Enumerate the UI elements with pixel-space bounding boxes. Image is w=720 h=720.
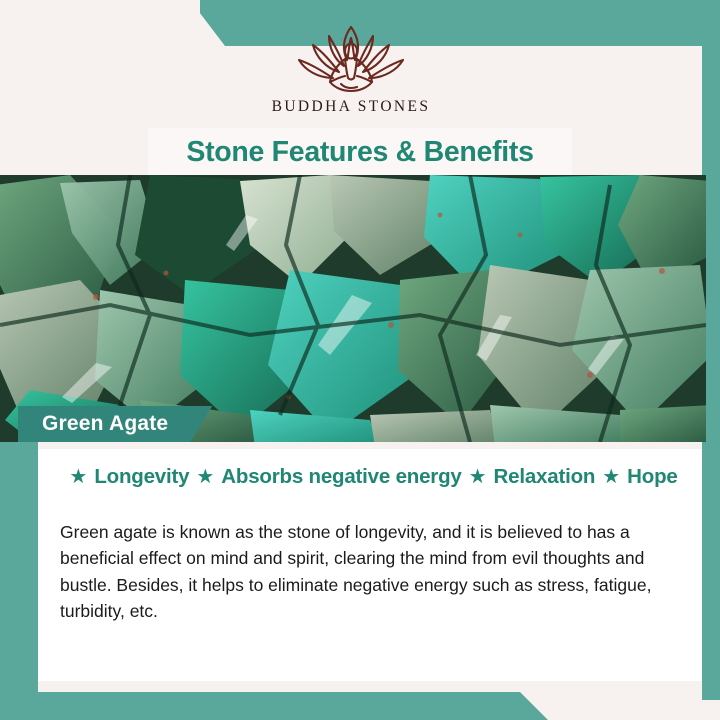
infographic-page: BUDDHA STONES Stone Features & Benefits: [0, 0, 720, 720]
stone-photo-graphic: [0, 175, 706, 442]
benefits-list: ★ Longevity ★ Absorbs negative energy ★ …: [38, 449, 702, 497]
star-icon: ★: [196, 467, 214, 487]
benefit-item-hope: Hope: [627, 465, 677, 489]
decorative-bottom-band: [0, 692, 720, 720]
stone-name-tag: Green Agate: [18, 406, 212, 442]
stone-photo: [0, 175, 706, 442]
page-title: Stone Features & Benefits: [186, 136, 533, 169]
benefit-item-relaxation: Relaxation: [494, 465, 596, 489]
benefit-item-absorbs-negative-energy: Absorbs negative energy: [221, 465, 461, 489]
stone-name-label: Green Agate: [42, 412, 168, 436]
page-title-banner: Stone Features & Benefits: [148, 128, 572, 176]
stone-description: Green agate is known as the stone of lon…: [38, 515, 702, 625]
star-icon: ★: [69, 467, 87, 487]
star-icon: ★: [602, 467, 620, 487]
brand-header: BUDDHA STONES: [0, 18, 702, 116]
brand-name: BUDDHA STONES: [0, 98, 702, 116]
benefit-item-longevity: Longevity: [94, 465, 189, 489]
star-icon: ★: [469, 467, 487, 487]
content-card: ★ Longevity ★ Absorbs negative energy ★ …: [38, 449, 702, 681]
lotus-meditation-icon: [285, 18, 417, 96]
